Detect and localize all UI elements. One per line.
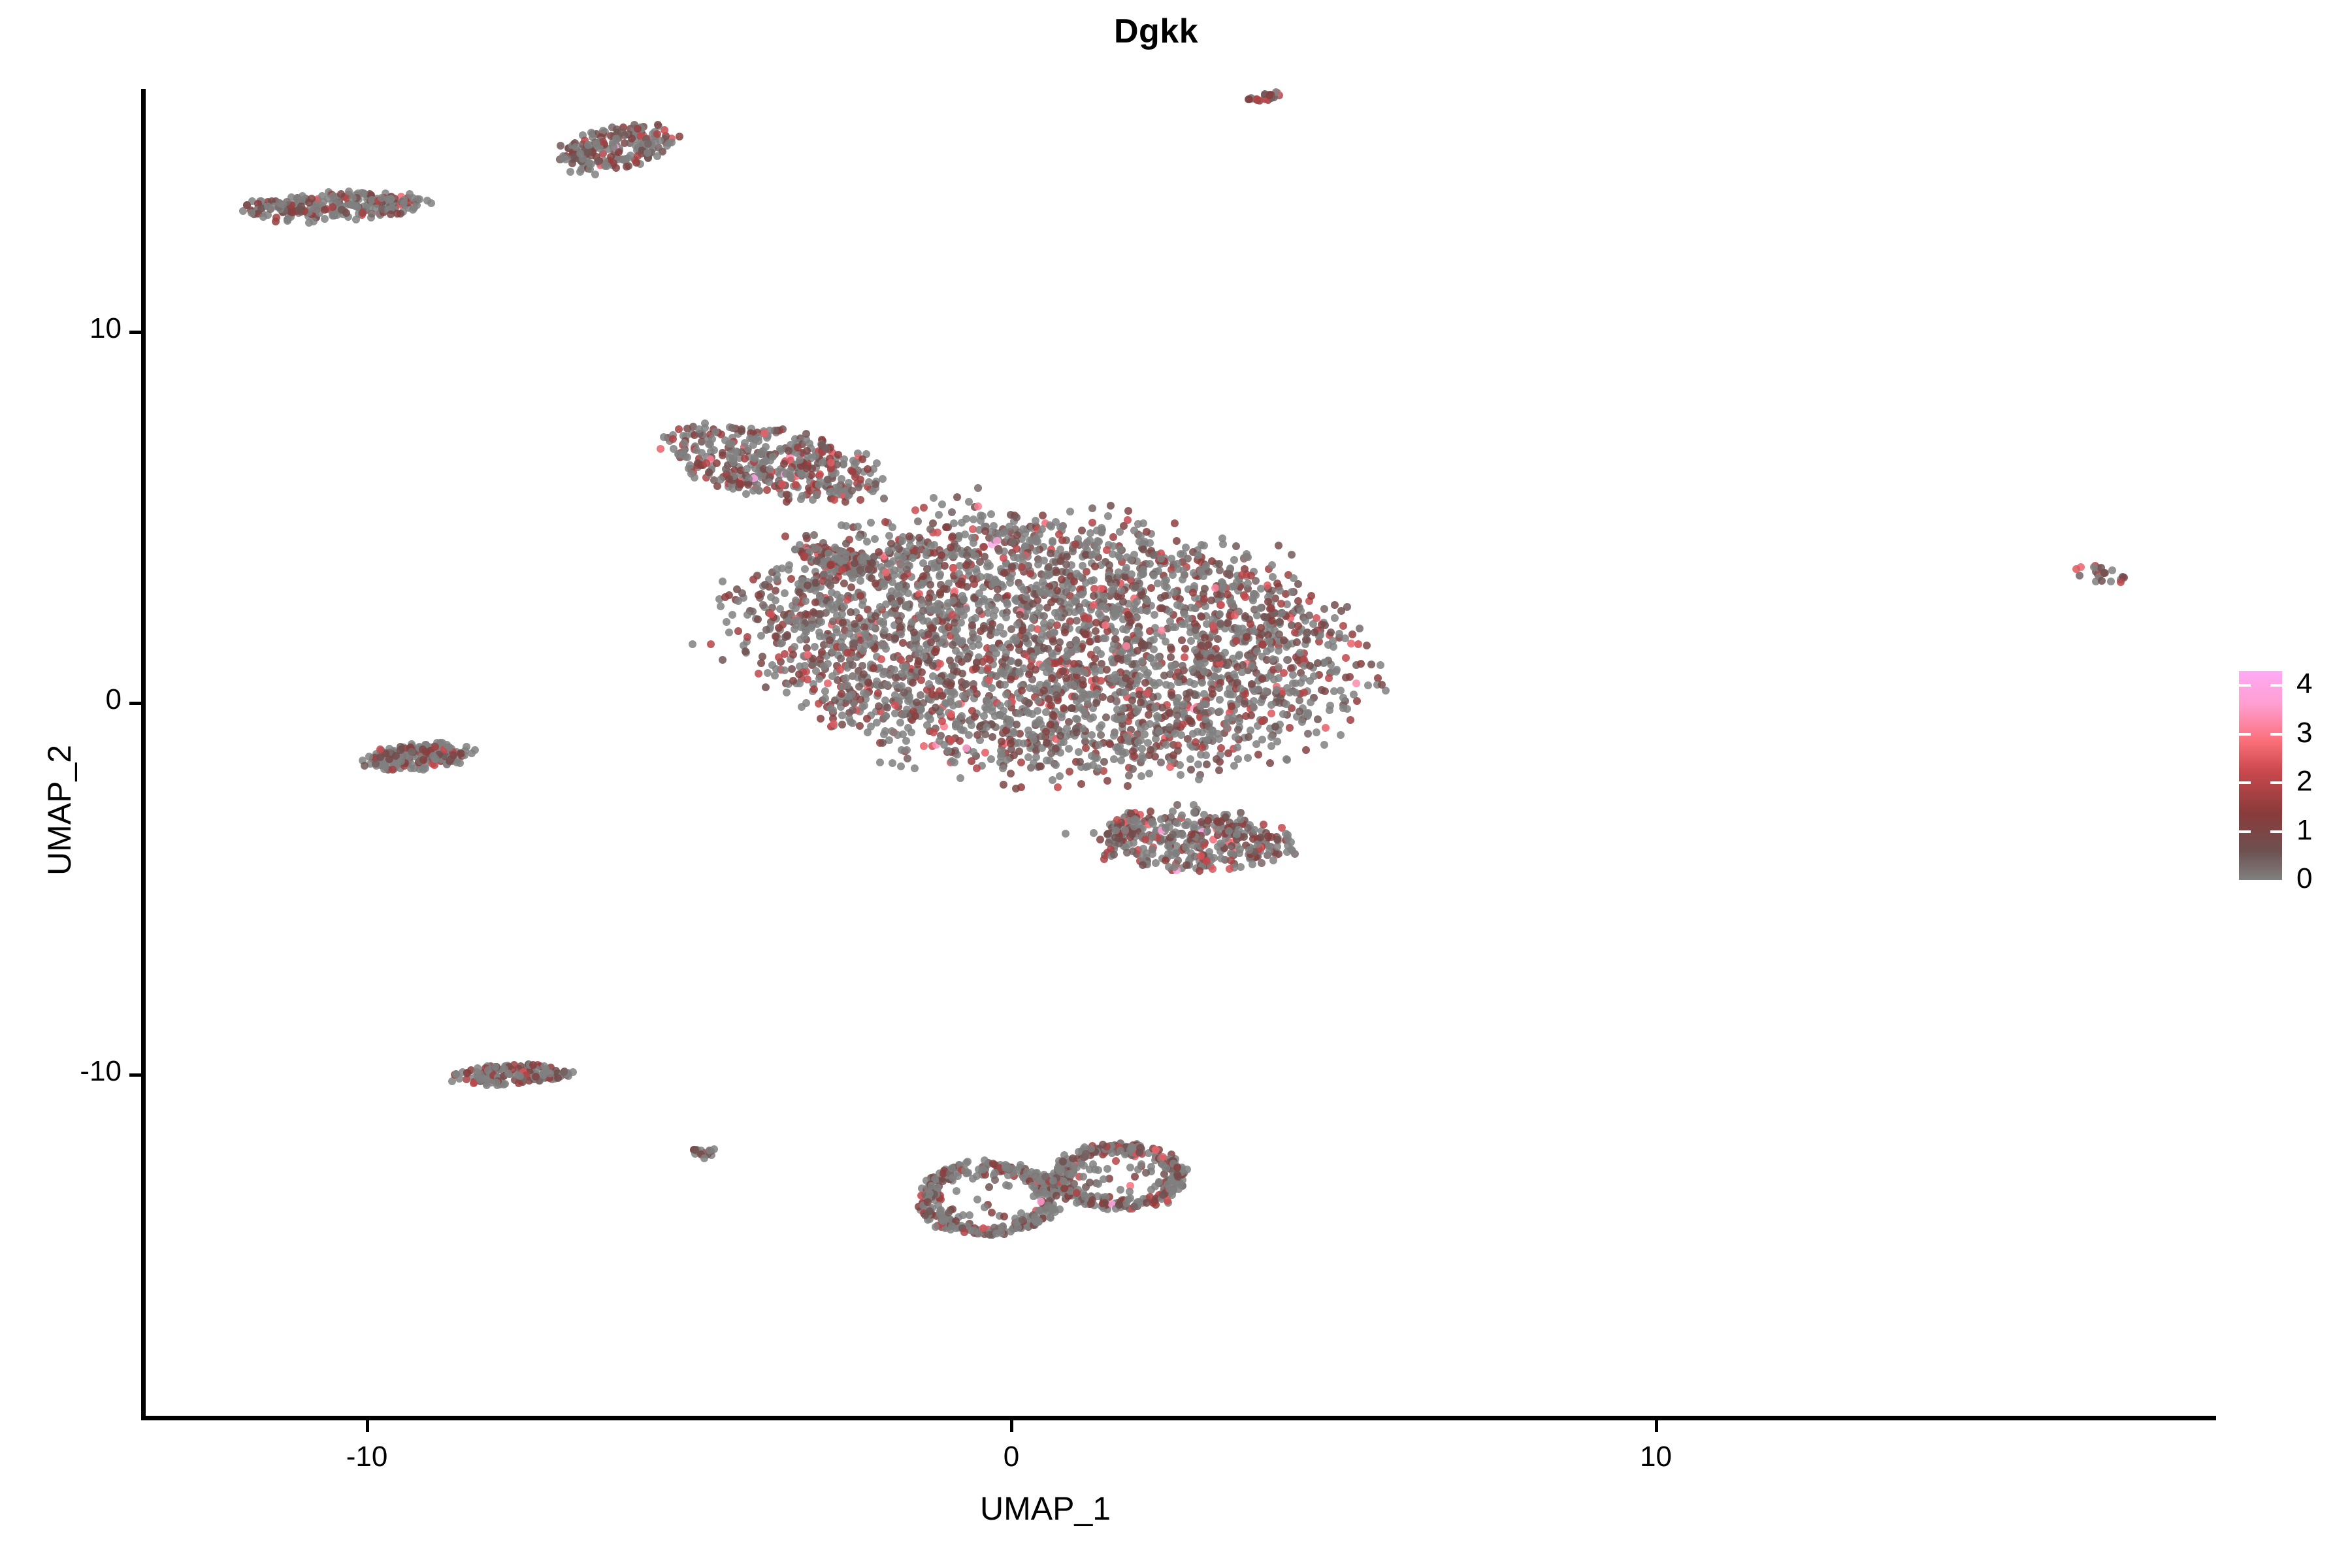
scatter-point [1363,642,1371,649]
scatter-point [1103,777,1111,785]
scatter-point [1354,640,1362,648]
scatter-point [1079,681,1087,689]
scatter-point [719,656,727,664]
scatter-point [1276,587,1284,595]
scatter-point [958,712,966,720]
scatter-point [811,598,819,606]
scatter-point [900,573,908,581]
scatter-point [1077,607,1085,615]
chart-root: Dgkk 100-10-10010 UMAP_2 UMAP_1 01234 [0,0,2352,1568]
scatter-point [928,691,936,698]
scatter-point [863,715,871,723]
scatter-point [1235,717,1243,725]
scatter-point [634,152,642,160]
scatter-point [743,633,751,641]
scatter-point [791,643,798,651]
scatter-point [872,612,879,620]
scatter-point [1166,608,1173,615]
scatter-point [1104,830,1112,838]
scatter-point [823,445,830,453]
scatter-point [1169,751,1177,759]
scatter-point [663,142,671,150]
scatter-point [1091,563,1099,570]
scatter-point [576,150,584,157]
scatter-point [851,640,858,647]
scatter-point [781,532,789,540]
scatter-point [1088,519,1096,527]
scatter-point [1294,622,1302,630]
scatter-point [484,1066,492,1074]
scatter-point [904,724,912,732]
scatter-point [824,476,832,483]
scatter-point [1024,709,1032,717]
scatter-point [1176,672,1184,680]
scatter-point [911,506,919,514]
scatter-point [1002,613,1010,621]
scatter-point [1053,621,1061,629]
scatter-point [1087,651,1095,659]
scatter-point [817,715,825,723]
scatter-point [1089,713,1097,721]
scatter-point [1049,537,1056,545]
scatter-point [847,583,855,591]
scatter-point [1105,839,1113,847]
scatter-point [628,135,636,142]
scatter-point [376,745,384,753]
scatter-point [1203,760,1211,768]
page-title: Dgkk [1114,12,1702,51]
scatter-point [773,576,781,583]
scatter-point [693,446,700,454]
scatter-point [1218,585,1226,593]
scatter-point [1214,635,1222,643]
scatter-point [847,608,855,616]
scatter-point [803,447,811,455]
scatter-point [1280,669,1288,677]
scatter-point [812,667,820,675]
scatter-point [873,719,881,727]
scatter-point [713,459,721,467]
scatter-point [1170,588,1178,596]
scatter-point [1128,570,1135,578]
scatter-point [1238,668,1246,676]
scatter-point [968,757,975,765]
scatter-point [329,212,336,220]
scatter-point [1139,519,1147,527]
scatter-point [1082,579,1090,587]
scatter-point [1282,700,1290,708]
scatter-point [1157,815,1165,823]
scatter-point [1240,833,1248,841]
scatter-point [811,452,819,460]
scatter-point [572,143,580,151]
scatter-point [1040,612,1048,620]
scatter-point [833,629,841,636]
scatter-point [1132,583,1139,591]
scatter-point [1186,717,1194,725]
scatter-point [802,699,810,707]
scatter-point [842,522,850,530]
scatter-point [1181,645,1189,653]
scatter-point [1256,834,1264,841]
scatter-point [1233,743,1241,751]
scatter-point [838,475,845,483]
scatter-point [1217,855,1225,862]
scatter-point [1116,528,1124,536]
scatter-point [1062,830,1070,838]
scatter-point [623,163,630,171]
scatter-point [728,611,736,619]
scatter-point [826,488,834,496]
scatter-point [1066,508,1074,515]
scatter-point [1296,696,1303,704]
scatter-point [1119,598,1127,606]
scatter-point [926,581,934,589]
scatter-point [891,691,899,699]
scatter-point [1189,841,1197,849]
scatter-point [1150,572,1158,580]
scatter-point [802,597,809,605]
scatter-point [866,639,874,647]
scatter-point [1125,772,1133,779]
scatter-point [1110,851,1118,858]
scatter-point [858,601,866,609]
scatter-point [1237,685,1245,693]
scatter-point [1320,741,1328,749]
scatter-point [898,537,906,545]
scatter-point [1173,819,1181,827]
scatter-point [1000,569,1008,577]
scatter-point [787,466,794,474]
scatter-point [849,468,857,476]
scatter-point [829,606,837,613]
scatter-point [968,621,976,629]
scatter-point [1111,635,1119,643]
scatter-point [1275,663,1282,671]
scatter-point [700,1154,708,1162]
scatter-point [1146,560,1154,568]
scatter-point [1084,762,1092,770]
scatter-point [935,511,943,519]
scatter-point [719,451,727,459]
scatter-point [1134,647,1141,655]
scatter-point [1135,630,1143,638]
scatter-point [845,479,853,487]
scatter-point [474,1064,482,1072]
scatter-point [1143,689,1151,697]
scatter-point [762,683,770,691]
scatter-point [968,534,976,542]
scatter-point [1267,710,1275,717]
scatter-point [1146,627,1154,635]
scatter-point [557,142,564,150]
scatter-point [1307,698,1315,706]
scatter-point [1286,724,1294,732]
scatter-point [1073,645,1081,653]
scatter-point [1231,612,1239,619]
scatter-point [1174,565,1182,573]
scatter-point [864,679,872,687]
scatter-point [1100,758,1108,766]
scatter-point [1107,587,1115,595]
scatter-point [1077,780,1085,788]
scatter-point [864,465,872,473]
scatter-point [1029,653,1037,661]
scatter-point [889,523,896,531]
scatter-point [1173,601,1181,609]
scatter-point [1262,687,1269,695]
scatter-point [875,702,883,710]
scatter-point [669,435,677,443]
scatter-point [1059,667,1067,675]
scatter-point [914,582,922,590]
scatter-point [1155,662,1163,670]
scatter-point [764,669,772,677]
scatter-point [1171,730,1179,738]
scatter-point [368,210,376,218]
scatter-point [1056,546,1064,553]
scatter-point [909,679,917,687]
scatter-point [1342,654,1350,662]
scatter-point [1058,713,1066,721]
scatter-point [1144,669,1152,677]
scatter-point [841,555,849,563]
scatter-point [838,643,846,651]
scatter-point [1151,611,1158,619]
scatter-point [612,164,620,172]
scatter-point [1169,808,1177,815]
scatter-point [1180,700,1188,708]
scatter-point [824,660,832,668]
scatter-point [917,691,924,699]
scatter-point [885,547,892,555]
scatter-point [1275,850,1282,858]
scatter-point [721,593,729,601]
scatter-point [1013,514,1021,521]
scatter-point [920,504,928,512]
scatter-point [993,537,1001,545]
scatter-point [789,651,797,659]
scatter-point [997,747,1005,755]
scatter-point [1160,672,1168,679]
scatter-point [911,764,919,772]
scatter-point [1208,685,1216,693]
scatter-point [879,670,887,678]
scatter-point [1103,666,1111,674]
scatter-point [1239,661,1247,669]
scatter-point [771,672,779,679]
scatter-point [1007,676,1015,683]
scatter-point [918,668,926,676]
scatter-point [970,515,977,523]
scatter-point [1215,766,1223,774]
scatter-point [968,721,975,729]
scatter-point [881,518,889,526]
scatter-point [885,532,893,540]
scatter-point [406,190,414,198]
scatter-point [1258,736,1266,743]
scatter-point [1230,670,1238,678]
scatter-point [1147,584,1155,592]
scatter-point [1306,662,1314,670]
scatter-point [957,726,965,734]
scatter-point [1081,630,1089,638]
scatter-point [1169,830,1177,838]
scatter-point [1215,654,1222,662]
scatter-point [1034,707,1041,715]
scatter-point [751,453,759,461]
scatter-point [838,683,846,691]
scatter-point [788,665,796,673]
scatter-point [1352,679,1360,687]
scatter-point [1019,553,1026,561]
scatter-point [824,679,832,687]
scatter-point [1237,863,1245,871]
scatter-point [857,496,864,504]
scatter-point [380,765,388,773]
scatter-point [1331,614,1339,622]
scatter-point [359,209,367,217]
scatter-point [845,715,853,723]
scatter-point [879,739,887,747]
scatter-point [1284,834,1292,842]
scatter-point [1062,674,1070,682]
scatter-point [900,689,908,696]
scatter-point [1145,770,1153,777]
scatter-point [1173,537,1181,545]
scatter-point [1164,842,1172,850]
scatter-point [1117,757,1125,764]
scatter-point [860,702,868,710]
scatter-point [1241,700,1249,708]
scatter-point [781,666,789,674]
scatter-point [1249,860,1256,868]
scatter-point [1032,719,1039,727]
scatter-point [896,719,904,727]
scatter-point [1090,576,1098,584]
scatter-point [909,708,917,715]
scatter-point [705,468,713,476]
scatter-point [1196,867,1203,875]
scatter-point [762,626,770,634]
scatter-point [947,544,955,551]
scatter-point [1250,590,1258,598]
scatter-point [1364,681,1372,689]
scatter-point [987,755,995,763]
scatter-point [1036,604,1043,612]
scatter-point [856,722,864,730]
scatter-point [1221,649,1229,657]
scatter-point [1045,695,1053,703]
scatter-point [761,581,769,589]
scatter-point [960,612,968,619]
scatter-point [1186,689,1194,696]
scatter-point [321,206,329,214]
scatter-point [1216,708,1224,715]
scatter-point [863,538,871,546]
scatter-point [1171,623,1179,631]
scatter-point [515,1079,523,1087]
scatter-point [1162,824,1169,832]
scatter-point [710,446,718,454]
scatter-point [795,670,803,678]
scatter-point [248,209,255,217]
scatter-point [1162,576,1170,584]
scatter-point [1207,707,1215,715]
scatter-point [787,575,795,583]
scatter-point [431,743,439,751]
scatter-point [862,690,870,698]
scatter-point [892,674,900,681]
scatter-point [1015,739,1022,747]
scatter-point [1127,556,1135,564]
scatter-point [973,1196,981,1203]
scatter-point [1241,593,1249,601]
scatter-point [855,533,863,541]
scatter-point [594,157,602,165]
scatter-point [1337,731,1345,739]
scatter-point [1228,842,1235,850]
scatter-point [1006,579,1014,587]
scatter-point [897,656,905,664]
scatter-point [1139,546,1147,553]
scatter-point [902,737,910,745]
scatter-point [890,571,898,579]
scatter-point [801,565,809,573]
scatter-point [1314,659,1322,667]
scatter-point [1150,636,1158,644]
scatter-point [387,195,395,203]
scatter-point [974,635,982,643]
scatter-point [1071,540,1079,548]
scatter-point [746,434,754,442]
scatter-point [810,531,818,539]
scatter-point [554,1074,562,1082]
scatter-point [1131,600,1139,608]
scatter-point [1082,744,1090,752]
scatter-point [772,665,780,673]
scatter-point [1260,821,1267,828]
scatter-point [653,130,661,138]
scatter-point [889,557,897,565]
scatter-point [1195,776,1203,783]
scatter-point [772,632,779,640]
scatter-point [1367,661,1375,668]
scatter-point [1348,630,1356,638]
scatter-point [877,655,885,663]
scatter-point [1216,610,1224,618]
scatter-point [923,721,931,729]
scatter-point [1171,519,1179,527]
scatter-point [603,162,611,170]
scatter-point [1314,715,1322,723]
scatter-point [873,459,881,467]
scatter-point [337,190,345,198]
scatter-point [1200,572,1207,580]
scatter-point [1060,704,1068,712]
scatter-point [920,742,928,750]
scatter-point [754,615,762,623]
scatter-point [1091,665,1099,673]
scatter-point [988,733,996,741]
scatter-point [891,710,899,717]
scatter-point [1258,675,1266,683]
scatter-point [1188,666,1196,674]
scatter-point [1088,504,1096,512]
scatter-point [792,481,800,489]
scatter-point [1217,744,1225,752]
scatter-point [1194,760,1202,768]
